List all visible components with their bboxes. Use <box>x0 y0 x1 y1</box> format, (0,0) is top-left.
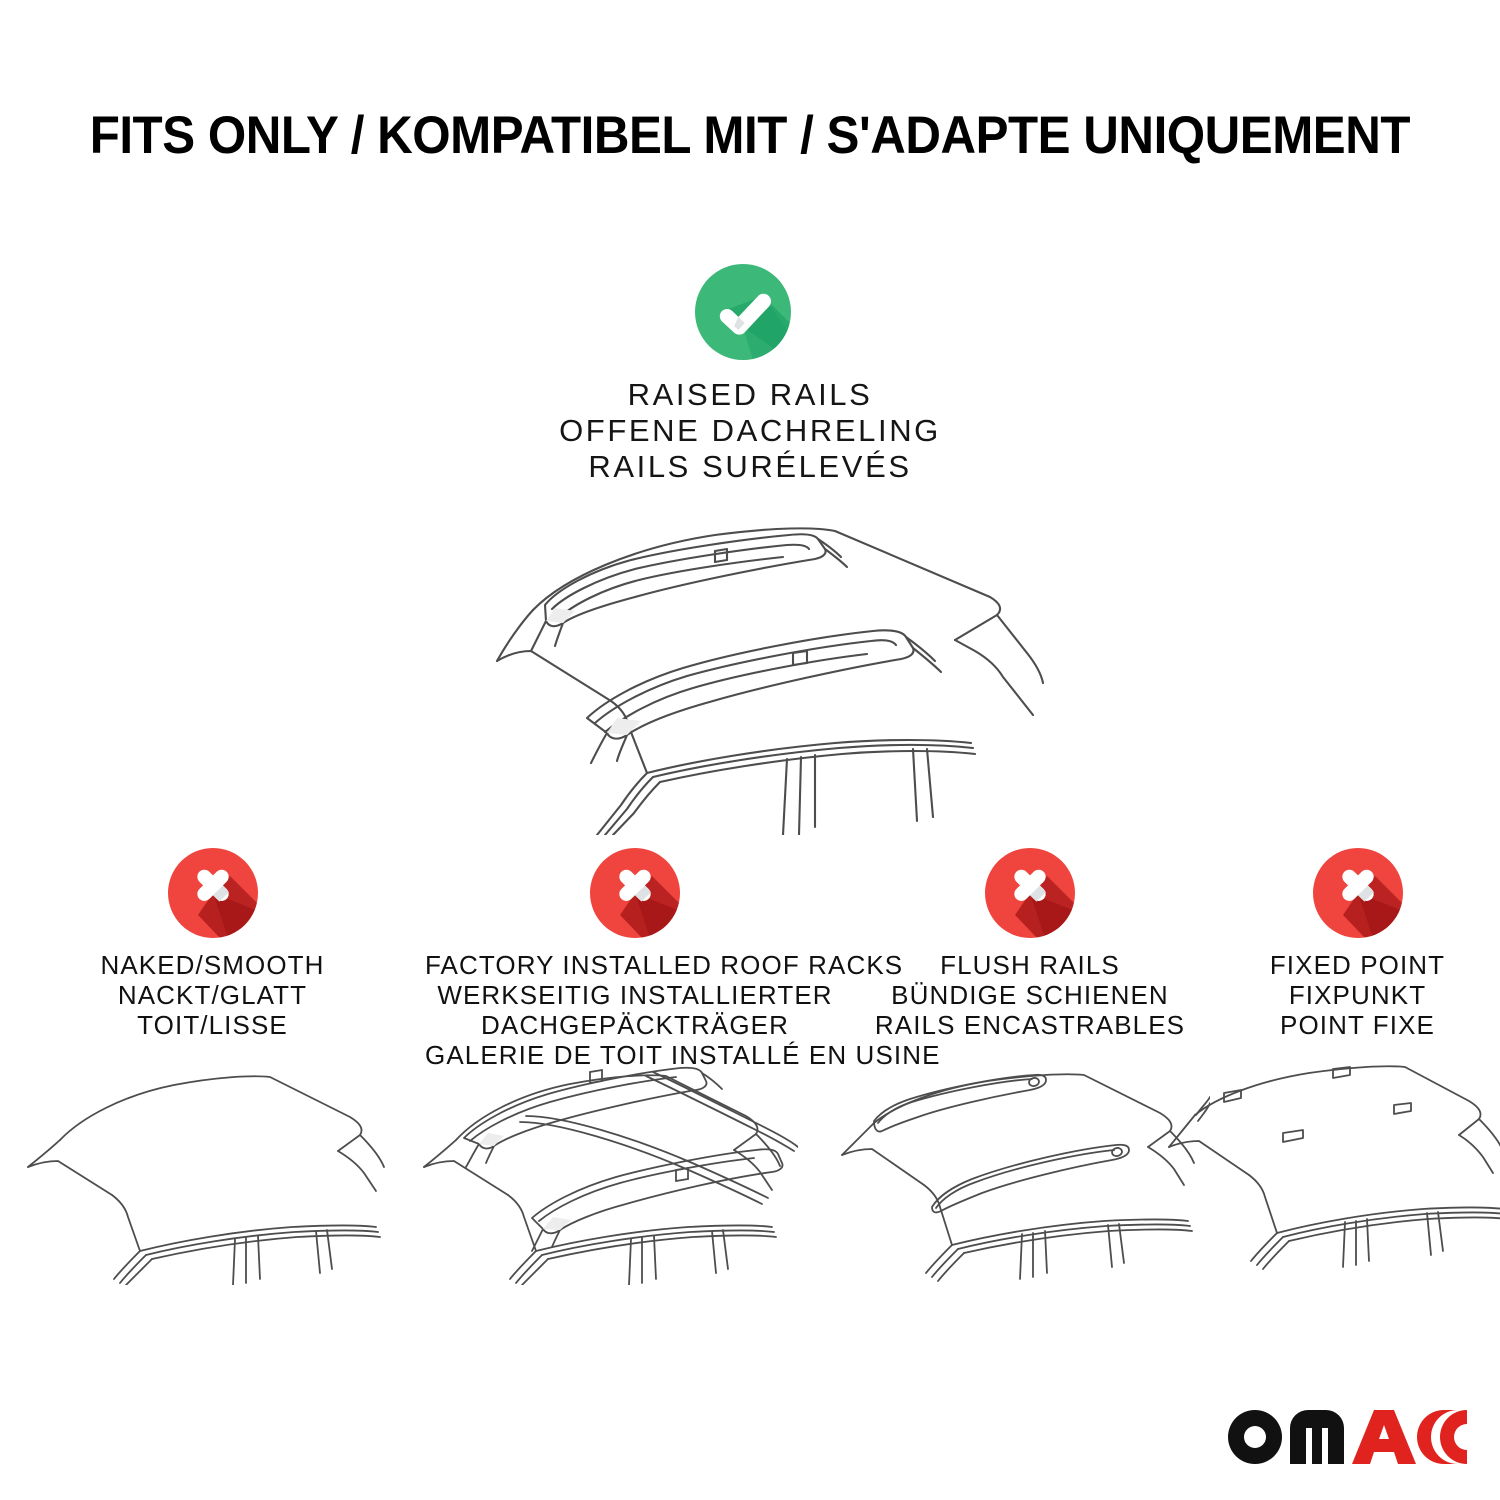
car-roof-naked-smooth-drawing <box>20 1055 400 1285</box>
car-roof-fixed-point-drawing <box>1165 1055 1500 1285</box>
check-circle-icon <box>695 264 791 360</box>
x-glyph <box>590 848 680 938</box>
label-line-1: NAKED/SMOOTH <box>0 950 425 980</box>
compatible-label-line-3: RAILS SURÉLEVÉS <box>0 449 1500 485</box>
x-glyph <box>168 848 258 938</box>
logo-letter-o <box>1228 1410 1282 1464</box>
label-line-2: BÜNDIGE SCHIENEN <box>845 980 1215 1010</box>
car-roof-factory-racks-illustration <box>408 1050 798 1285</box>
page-title: FITS ONLY / KOMPATIBEL MIT / S'ADAPTE UN… <box>90 106 1410 166</box>
car-roof-flush-rails-drawing <box>830 1055 1210 1285</box>
label-line-1: FACTORY INSTALLED ROOF RACKS <box>425 950 845 980</box>
label-line-3: POINT FIXE <box>1215 1010 1500 1040</box>
label-line-2: NACKT/GLATT <box>0 980 425 1010</box>
label-line-3: DACHGEPÄCKTRÄGER <box>425 1010 845 1040</box>
label-line-1: FLUSH RAILS <box>845 950 1215 980</box>
header: FITS ONLY / KOMPATIBEL MIT / S'ADAPTE UN… <box>0 106 1500 166</box>
x-glyph <box>985 848 1075 938</box>
compatible-label: RAISED RAILS OFFENE DACHRELING RAILS SUR… <box>0 377 1500 485</box>
logo-letter-c <box>1417 1410 1467 1464</box>
x-glyph <box>1313 848 1403 938</box>
x-circle-icon <box>1313 848 1403 938</box>
label-line-3: TOIT/LISSE <box>0 1010 425 1040</box>
car-roof-raised-rails-drawing <box>415 505 1085 835</box>
x-circle-icon <box>168 848 258 938</box>
check-glyph <box>695 264 791 360</box>
compatible-label-line-2: OFFENE DACHRELING <box>0 413 1500 449</box>
logo-letter-a <box>1352 1410 1416 1464</box>
x-circle-icon <box>590 848 680 938</box>
label-line-3: RAILS ENCASTRABLES <box>845 1010 1215 1040</box>
incompatible-label-flush-rails: FLUSH RAILS BÜNDIGE SCHIENEN RAILS ENCAS… <box>845 950 1215 1040</box>
incompatible-label-fixed-point: FIXED POINT FIXPUNKT POINT FIXE <box>1215 950 1500 1040</box>
car-roof-fixed-point-illustration <box>1165 1055 1500 1285</box>
car-roof-factory-racks-drawing <box>408 1050 798 1285</box>
compatible-label-line-1: RAISED RAILS <box>0 377 1500 413</box>
logo-letter-m <box>1290 1410 1344 1464</box>
incompatible-label-naked-smooth: NAKED/SMOOTH NACKT/GLATT TOIT/LISSE <box>0 950 425 1040</box>
label-line-2: WERKSEITIG INSTALLIERTER <box>425 980 845 1010</box>
car-roof-raised-rails-illustration <box>415 505 1085 835</box>
label-line-1: FIXED POINT <box>1215 950 1500 980</box>
car-roof-naked-smooth-illustration <box>20 1055 400 1285</box>
label-line-2: FIXPUNKT <box>1215 980 1500 1010</box>
omac-logo-mark <box>1222 1402 1467 1472</box>
omac-logo <box>1222 1402 1467 1472</box>
car-roof-flush-rails-illustration <box>830 1055 1210 1285</box>
x-circle-icon <box>985 848 1075 938</box>
